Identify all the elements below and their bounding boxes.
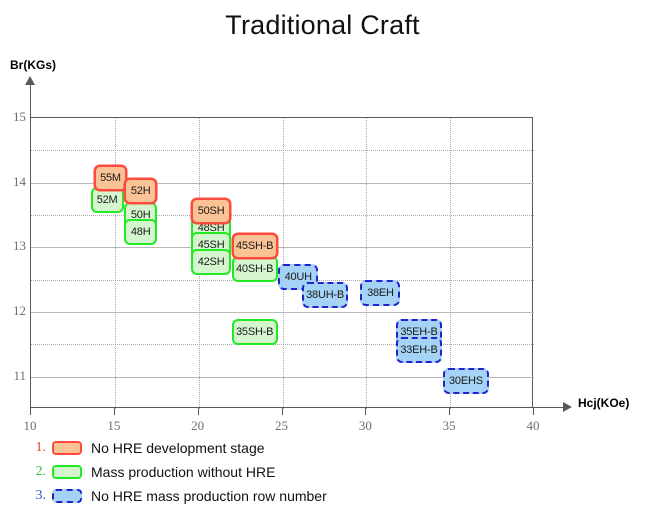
data-node-38uh-b[interactable]: 38UH-B [302,282,348,308]
data-node-38eh[interactable]: 38EH [360,280,400,306]
x-tick-mark [365,408,366,415]
x-tick-label: 30 [350,418,380,434]
data-node-33eh-b[interactable]: 33EH-B [396,337,442,363]
y-tick-label: 15 [2,109,26,125]
legend-item-number: 2. [26,464,46,480]
legend-swatch-blue [52,489,82,503]
legend-item: 3.No HRE mass production row number [26,484,626,508]
data-node-50sh[interactable]: 50SH [191,198,231,224]
legend-swatch-green [52,465,82,479]
chart-canvas: Traditional Craft Br(KGs) Hcj(KOe) 11121… [0,0,645,508]
x-tick-label: 25 [267,418,297,434]
data-node-30ehs[interactable]: 30EHS [443,368,489,394]
x-tick-mark [282,408,283,415]
y-tick-label: 11 [2,368,26,384]
gridline-vertical [366,118,367,409]
gridline-vertical [450,118,451,409]
data-node-42sh[interactable]: 42SH [191,249,231,275]
page-title: Traditional Craft [0,10,645,41]
x-tick-mark [114,408,115,415]
x-tick-label: 40 [518,418,548,434]
data-node-55m[interactable]: 55M [94,165,127,191]
legend-item-number: 1. [26,440,46,456]
y-tick-label: 12 [2,303,26,319]
gridline-vertical [115,118,116,409]
x-tick-label: 10 [15,418,45,434]
plot-area [30,117,533,408]
data-node-52h[interactable]: 52H [124,178,157,204]
x-tick-label: 35 [434,418,464,434]
data-node-45sh-b[interactable]: 45SH-B [232,233,278,259]
data-node-40sh-b[interactable]: 40SH-B [232,256,278,282]
x-tick-mark [30,408,31,415]
x-tick-label: 20 [183,418,213,434]
y-tick-label: 13 [2,238,26,254]
data-node-35sh-b[interactable]: 35SH-B [232,319,278,345]
x-axis-arrow-icon [563,402,572,412]
y-tick-label: 14 [2,174,26,190]
legend-item: 1.No HRE development stage [26,436,626,460]
legend-item-label: No HRE development stage [91,440,265,456]
x-tick-mark [449,408,450,415]
legend-item-number: 3. [26,488,46,504]
legend-swatch-red [52,441,82,455]
y-axis-title: Br(KGs) [10,58,56,72]
data-node-48h[interactable]: 48H [124,219,157,245]
legend: 1.No HRE development stage2.Mass product… [26,436,626,508]
legend-item: 2.Mass production without HRE [26,460,626,484]
x-axis-title: Hcj(KOe) [578,396,629,410]
legend-item-label: No HRE mass production row number [91,488,327,504]
x-tick-label: 15 [99,418,129,434]
legend-item-label: Mass production without HRE [91,464,275,480]
x-tick-mark [198,408,199,415]
x-tick-mark [533,408,534,415]
